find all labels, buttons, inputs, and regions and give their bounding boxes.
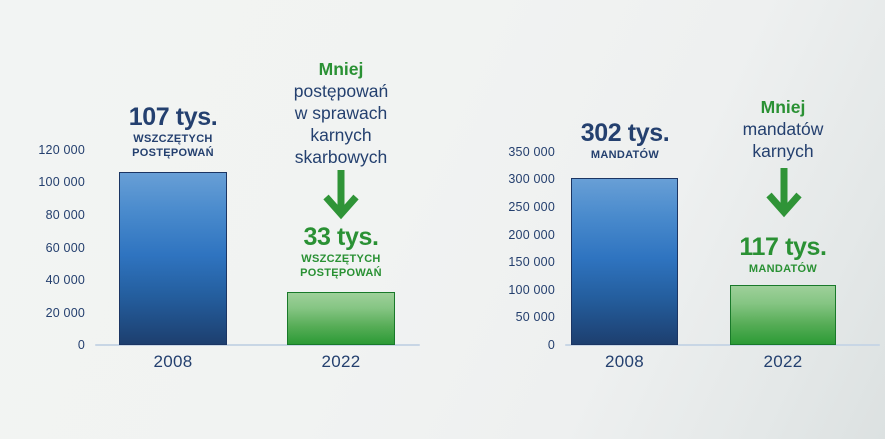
y-tick-label: 100 000 (475, 284, 555, 296)
value-callout-number: 117 tys. (713, 234, 853, 260)
y-tick-label: 150 000 (475, 256, 555, 268)
y-axis-right: 350 000 300 000 250 000 200 000 150 000 … (475, 0, 555, 439)
x-label-2008: 2008 (571, 352, 678, 372)
chart-panel-right: 350 000 300 000 250 000 200 000 150 000 … (445, 0, 885, 439)
arrow-down-icon (765, 168, 803, 225)
y-tick-label: 50 000 (475, 311, 555, 323)
caption-line-2: POSTĘPOWAŃ (300, 267, 382, 279)
y-tick-label: 80 000 (5, 209, 85, 221)
value-callout-caption: WSZCZĘTYCH POSTĘPOWAŃ (271, 253, 411, 280)
arrow-down-icon (322, 170, 360, 227)
annotation-line-2: karnych (708, 140, 858, 162)
y-tick-label: 300 000 (475, 173, 555, 185)
y-tick-label: 0 (5, 339, 85, 351)
x-label-2022: 2022 (287, 352, 395, 372)
y-tick-label: 60 000 (5, 242, 85, 254)
caption-line-1: WSZCZĘTYCH (133, 133, 212, 145)
bar-2022[interactable] (287, 292, 395, 345)
caption-line-1: MANDATÓW (591, 149, 659, 161)
value-callout-number: 33 tys. (271, 224, 411, 250)
annotation-accent: Mniej (708, 96, 858, 118)
caption-line-2: POSTĘPOWAŃ (132, 147, 214, 159)
value-callout-2008: 302 tys. MANDATÓW (555, 120, 695, 163)
y-axis-left: 120 000 100 000 80 000 60 000 40 000 20 … (5, 0, 85, 439)
value-callout-2008: 107 tys. WSZCZĘTYCH POSTĘPOWAŃ (103, 104, 243, 160)
value-callout-2022: 33 tys. WSZCZĘTYCH POSTĘPOWAŃ (271, 224, 411, 280)
annotation-line-3: karnych (266, 124, 416, 146)
bar-2008[interactable] (571, 178, 678, 345)
y-tick-label: 350 000 (475, 146, 555, 158)
caption-line-1: MANDATÓW (749, 263, 817, 275)
value-callout-number: 302 tys. (555, 120, 695, 146)
value-callout-2022: 117 tys. MANDATÓW (713, 234, 853, 277)
value-callout-number: 107 tys. (103, 104, 243, 130)
y-tick-label: 20 000 (5, 307, 85, 319)
chart-panel-left: 120 000 100 000 80 000 60 000 40 000 20 … (0, 0, 445, 439)
x-label-2022: 2022 (730, 352, 836, 372)
infographic-root: 120 000 100 000 80 000 60 000 40 000 20 … (0, 0, 885, 439)
annotation-line-1: mandatów (708, 118, 858, 140)
annotation-right: Mniej mandatów karnych (708, 96, 858, 162)
y-tick-label: 120 000 (5, 144, 85, 156)
bar-2022[interactable] (730, 285, 836, 345)
y-tick-label: 200 000 (475, 229, 555, 241)
value-callout-caption: MANDATÓW (555, 149, 695, 162)
bar-2008[interactable] (119, 172, 227, 345)
y-tick-label: 100 000 (5, 176, 85, 188)
x-label-2008: 2008 (119, 352, 227, 372)
y-tick-label: 40 000 (5, 274, 85, 286)
annotation-left: Mniej postępowań w sprawach karnych skar… (266, 58, 416, 168)
value-callout-caption: WSZCZĘTYCH POSTĘPOWAŃ (103, 133, 243, 160)
y-tick-label: 250 000 (475, 201, 555, 213)
caption-line-1: WSZCZĘTYCH (301, 253, 380, 265)
value-callout-caption: MANDATÓW (713, 263, 853, 276)
annotation-line-4: skarbowych (266, 146, 416, 168)
annotation-line-1: postępowań (266, 80, 416, 102)
annotation-line-2: w sprawach (266, 102, 416, 124)
y-tick-label: 0 (475, 339, 555, 351)
annotation-accent: Mniej (266, 58, 416, 80)
